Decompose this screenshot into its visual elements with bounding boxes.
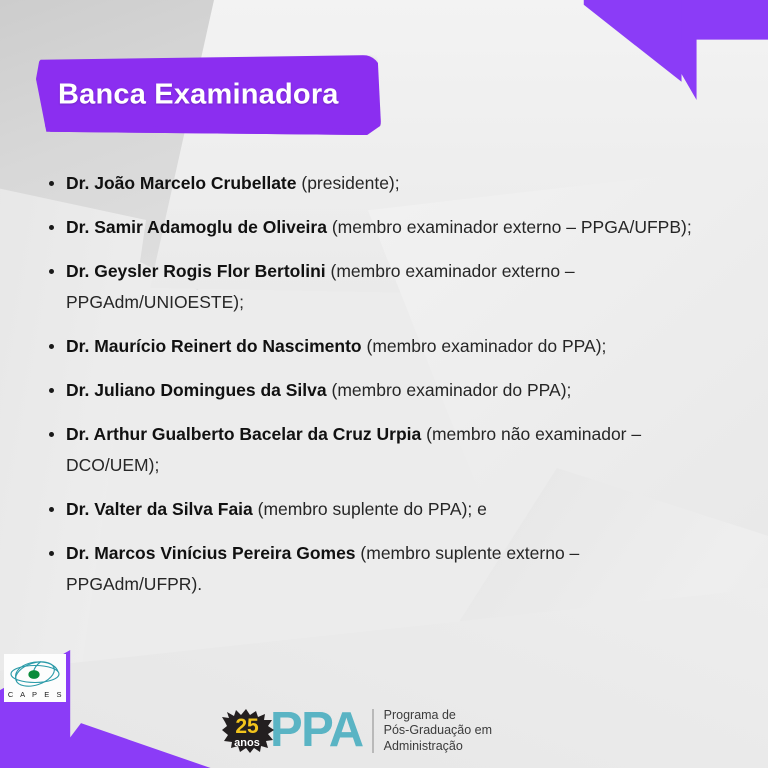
anniversary-word: anos — [234, 737, 260, 749]
header-banner: Banca Examinadora — [36, 55, 381, 135]
ppa-subtitle-line-3: Administração — [384, 739, 492, 755]
list-item: Dr. Arthur Gualberto Bacelar da Cruz Urp… — [44, 419, 716, 481]
member-role: (membro examinador do PPA); — [367, 336, 607, 356]
list-item: Dr. Maurício Reinert do Nascimento (memb… — [44, 331, 716, 362]
member-name: Dr. Valter da Silva Faia — [66, 499, 253, 519]
member-name: Dr. Juliano Domingues da Silva — [66, 380, 327, 400]
capes-wordmark: C A P E S — [6, 690, 64, 699]
slide-canvas: Banca Examinadora Dr. João Marcelo Crube… — [0, 0, 768, 768]
ppa-subtitle: Programa de Pós-Graduação em Administraç… — [384, 708, 492, 755]
ppa-logo: 25 anos PPA Programa de Pós-Graduação em… — [220, 708, 492, 755]
member-role: (membro examinador externo – PPGA/UFPB); — [332, 217, 692, 237]
list-item: Dr. Samir Adamoglu de Oliveira (membro e… — [44, 212, 716, 243]
member-role: (membro examinador do PPA); — [332, 380, 572, 400]
list-item: Dr. João Marcelo Crubellate (presidente)… — [44, 168, 716, 199]
anniversary-number: 25 — [235, 715, 259, 738]
member-role: (membro suplente do PPA); e — [258, 499, 487, 519]
ppa-subtitle-line-2: Pós-Graduação em — [384, 723, 492, 739]
capes-logo: C A P E S — [4, 654, 66, 702]
member-name: Dr. João Marcelo Crubellate — [66, 173, 297, 193]
list-item: Dr. Geysler Rogis Flor Bertolini (membro… — [44, 256, 716, 318]
ppa-subtitle-line-1: Programa de — [384, 708, 492, 724]
ppa-acronym: PPA — [270, 708, 363, 753]
member-name: Dr. Marcos Vinícius Pereira Gomes — [66, 543, 356, 563]
capes-orbit-icon — [7, 659, 63, 689]
list-item: Dr. Marcos Vinícius Pereira Gomes (membr… — [44, 538, 716, 600]
list-item: Dr. Valter da Silva Faia (membro suplent… — [44, 494, 716, 525]
member-name: Dr. Geysler Rogis Flor Bertolini — [66, 261, 326, 281]
page-title: Banca Examinadora — [58, 79, 339, 112]
ppa-divider — [372, 709, 374, 753]
examining-board-list: Dr. João Marcelo Crubellate (presidente)… — [44, 168, 716, 613]
list-item: Dr. Juliano Domingues da Silva (membro e… — [44, 375, 716, 406]
capes-center-dot — [28, 670, 39, 679]
member-name: Dr. Samir Adamoglu de Oliveira — [66, 217, 327, 237]
member-role: (presidente); — [301, 173, 399, 193]
member-name: Dr. Maurício Reinert do Nascimento — [66, 336, 362, 356]
member-name: Dr. Arthur Gualberto Bacelar da Cruz Urp… — [66, 424, 421, 444]
anniversary-badge-icon: 25 anos — [220, 708, 276, 754]
